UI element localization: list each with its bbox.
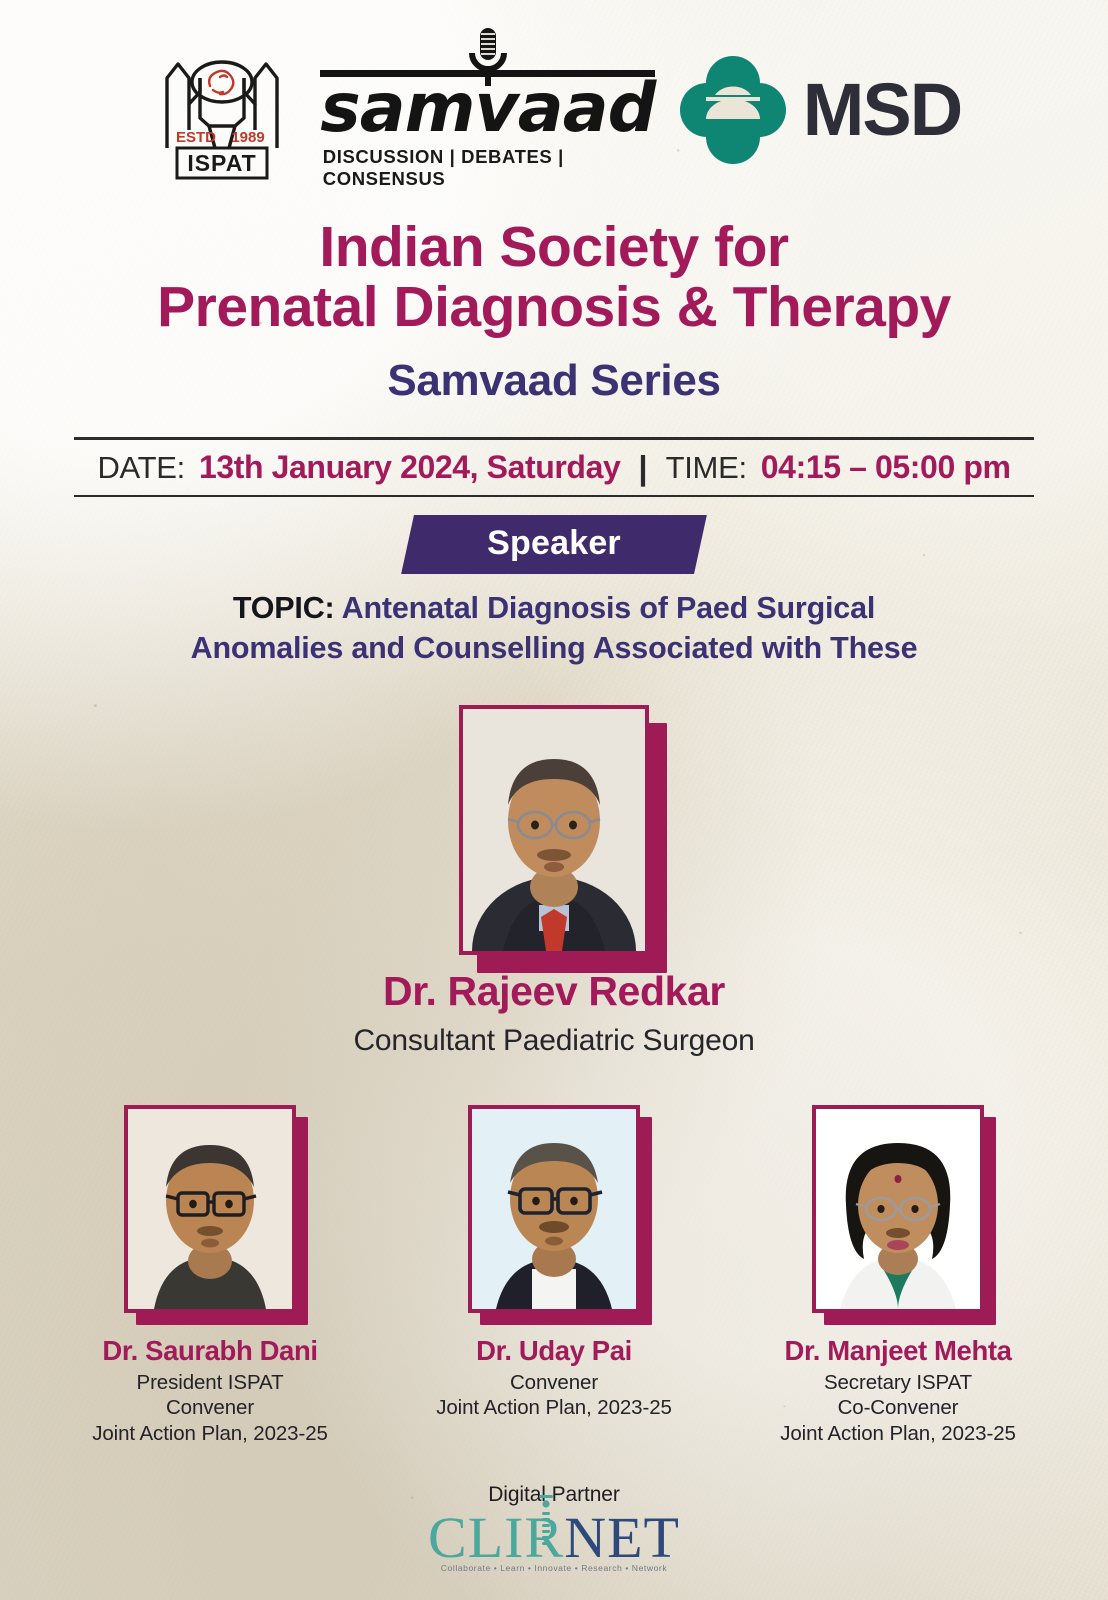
datetime-separator: | bbox=[634, 449, 651, 487]
speaker-banner: Speaker bbox=[0, 515, 1108, 574]
portrait-illustration bbox=[816, 1109, 980, 1309]
faculty-name: Dr. Uday Pai bbox=[476, 1335, 632, 1367]
faculty-row: Dr. Saurabh Dani President ISPAT Convene… bbox=[0, 1105, 1108, 1446]
header-logo-bar: ESTD 1989 ISPAT samvaad DISCUSSION bbox=[0, 22, 1108, 197]
speaker-banner-label: Speaker bbox=[401, 515, 707, 574]
faculty-portrait-2 bbox=[468, 1105, 640, 1313]
faculty-photo-frame bbox=[812, 1105, 984, 1313]
faculty-name: Dr. Saurabh Dani bbox=[102, 1335, 317, 1367]
faculty-portrait-1 bbox=[124, 1105, 296, 1313]
microphone-icon bbox=[465, 26, 511, 92]
faculty-role-line-2: Convener bbox=[92, 1395, 328, 1420]
msd-wordmark: MSD bbox=[803, 67, 961, 152]
title-line-2: Prenatal Diagnosis & Therapy bbox=[0, 278, 1108, 338]
faculty-role-line-2: Joint Action Plan, 2023-25 bbox=[436, 1395, 672, 1420]
event-poster: ESTD 1989 ISPAT samvaad DISCUSSION bbox=[0, 0, 1108, 1600]
faculty-name: Dr. Manjeet Mehta bbox=[784, 1335, 1011, 1367]
clirnet-part-net: NET bbox=[564, 1505, 680, 1570]
time-value: 04:15 – 05:00 pm bbox=[761, 449, 1011, 486]
faculty-role: Secretary ISPAT Co-Convener Joint Action… bbox=[780, 1370, 1016, 1446]
ispat-logo: ESTD 1989 ISPAT bbox=[147, 30, 297, 190]
clirnet-part-i: I bbox=[504, 1505, 524, 1570]
title-subtitle: Samvaad Series bbox=[0, 356, 1108, 406]
digital-partner-block: Digital Partner CLIRNET Collaborate • Le… bbox=[0, 1483, 1108, 1573]
speaker-photo-wrap bbox=[0, 705, 1108, 955]
clirnet-spine-icon bbox=[538, 1495, 554, 1557]
speaker-photo-frame bbox=[459, 705, 649, 955]
faculty-card: Dr. Manjeet Mehta Secretary ISPAT Co-Con… bbox=[783, 1105, 1013, 1446]
samvaad-logo: samvaad DISCUSSION | DEBATES | CONSENSUS bbox=[323, 30, 653, 190]
datetime-bar: DATE: 13th January 2024, Saturday | TIME… bbox=[74, 437, 1034, 497]
faculty-photo-frame bbox=[124, 1105, 296, 1313]
faculty-role-line-3: Joint Action Plan, 2023-25 bbox=[780, 1421, 1016, 1446]
faculty-role-line-1: Secretary ISPAT bbox=[780, 1370, 1016, 1395]
ispat-estd-label: ESTD bbox=[176, 129, 216, 146]
msd-logo: MSD bbox=[679, 55, 961, 165]
faculty-card: Dr. Uday Pai Convener Joint Action Plan,… bbox=[439, 1105, 669, 1446]
time-label: TIME: bbox=[666, 450, 747, 486]
portrait-illustration bbox=[128, 1109, 292, 1309]
speaker-portrait bbox=[459, 705, 649, 955]
clirnet-logo: CLIRNET bbox=[428, 1509, 680, 1567]
divider-bottom bbox=[74, 495, 1034, 498]
faculty-role-line-1: Convener bbox=[436, 1370, 672, 1395]
title-line-1: Indian Society for bbox=[0, 218, 1108, 278]
faculty-role-line-1: President ISPAT bbox=[92, 1370, 328, 1395]
portrait-illustration bbox=[472, 1109, 636, 1309]
ispat-name: ISPAT bbox=[187, 150, 256, 176]
topic-block: TOPIC: Antenatal Diagnosis of Paed Surgi… bbox=[0, 588, 1108, 669]
ispat-estd-year: 1989 bbox=[231, 129, 264, 146]
topic-line-2: Anomalies and Counselling Associated wit… bbox=[70, 628, 1038, 668]
topic-line-1: TOPIC: Antenatal Diagnosis of Paed Surgi… bbox=[70, 588, 1038, 628]
faculty-photo-frame bbox=[468, 1105, 640, 1313]
speaker-name-block: Dr. Rajeev Redkar Consultant Paediatric … bbox=[0, 968, 1108, 1058]
date-label: DATE: bbox=[97, 450, 185, 486]
faculty-card: Dr. Saurabh Dani President ISPAT Convene… bbox=[95, 1105, 325, 1446]
topic-key: TOPIC: bbox=[233, 591, 335, 625]
clirnet-part-cl: CL bbox=[428, 1505, 504, 1570]
faculty-role: Convener Joint Action Plan, 2023-25 bbox=[436, 1370, 672, 1421]
date-value: 13th January 2024, Saturday bbox=[199, 449, 620, 486]
faculty-role: President ISPAT Convener Joint Action Pl… bbox=[92, 1370, 328, 1446]
topic-text-1: Antenatal Diagnosis of Paed Surgical bbox=[342, 591, 875, 625]
faculty-role-line-2: Co-Convener bbox=[780, 1395, 1016, 1420]
faculty-portrait-3 bbox=[812, 1105, 984, 1313]
faculty-role-line-3: Joint Action Plan, 2023-25 bbox=[92, 1421, 328, 1446]
page-title: Indian Society for Prenatal Diagnosis & … bbox=[0, 218, 1108, 406]
speaker-role: Consultant Paediatric Surgeon bbox=[0, 1024, 1108, 1058]
hands-cradling-fetus-icon: ESTD 1989 ISPAT bbox=[147, 30, 297, 190]
speaker-name: Dr. Rajeev Redkar bbox=[0, 968, 1108, 1015]
samvaad-tagline: DISCUSSION | DEBATES | CONSENSUS bbox=[323, 146, 653, 190]
portrait-illustration bbox=[463, 709, 645, 951]
msd-clover-icon bbox=[679, 55, 787, 165]
